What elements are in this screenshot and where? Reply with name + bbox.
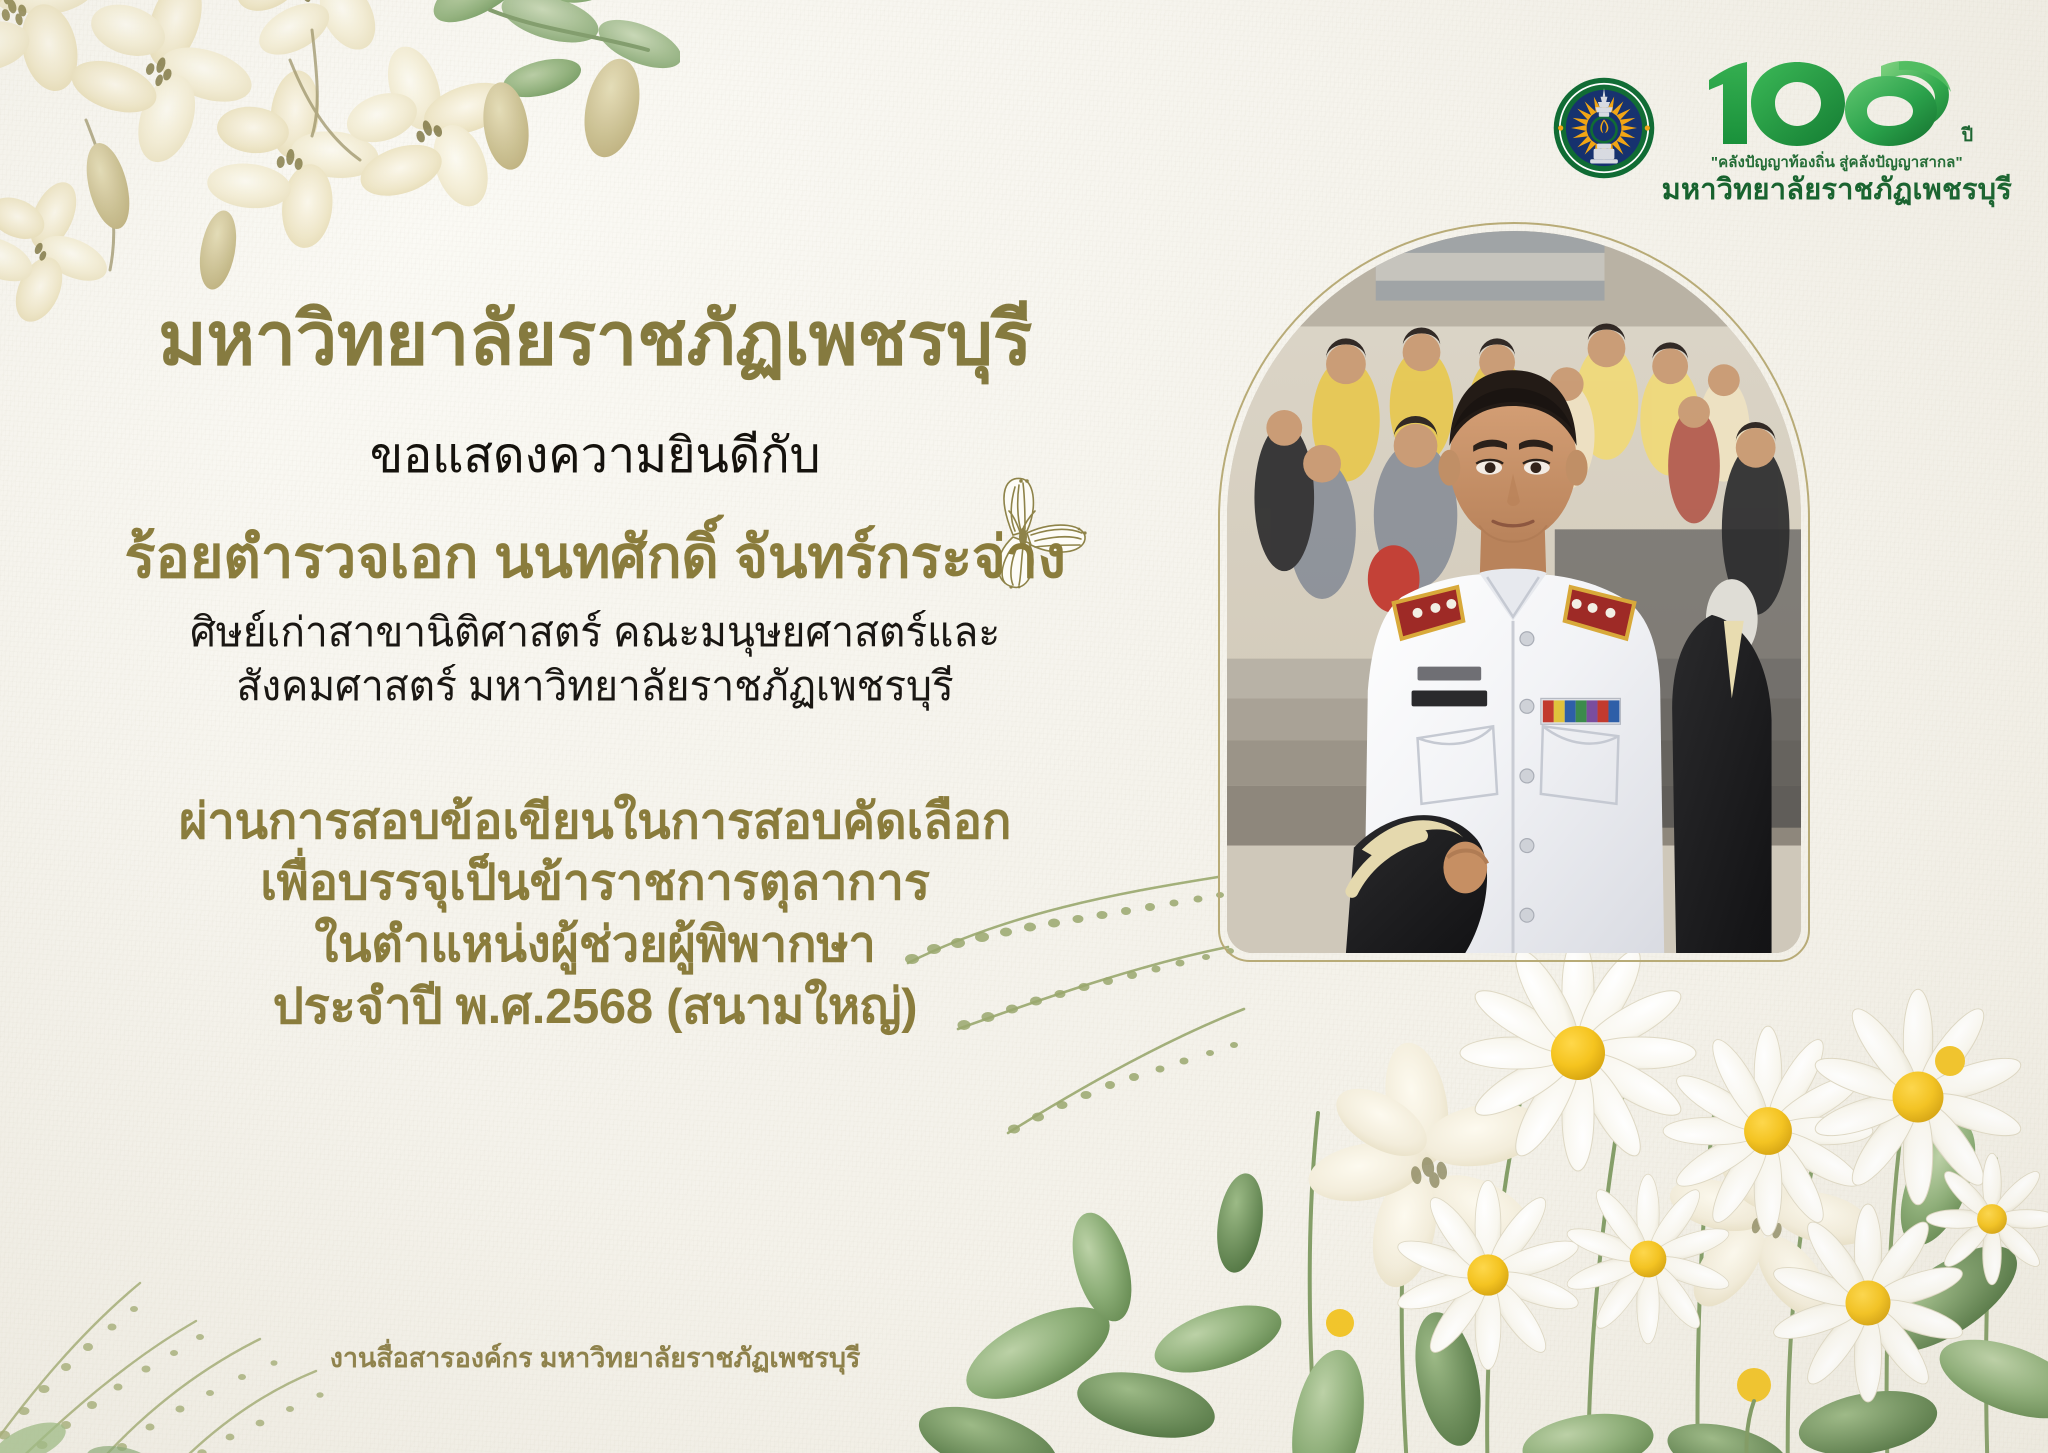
text-content-column: มหาวิทยาลัยราชภัฏเพชรบุรี ขอแสดงความยินด… [0, 300, 1190, 1039]
hundred-years-mark-icon [1701, 58, 1959, 154]
congratulation-poster: ปี "คลังปัญญาท้องถิ่น สู่คลังปัญญาสากล" … [0, 0, 2048, 1453]
honoree-affiliation-line-1: ศิษย์เก่าสาขานิติศาสตร์ คณะมนุษยศาสตร์แล… [0, 605, 1190, 659]
anniversary-unit-label: ปี [1962, 120, 1973, 149]
floral-decoration-bottom-left [0, 1143, 440, 1453]
achievement-line-3: ในตำแหน่งผู้ช่วยผู้พิพากษา [0, 915, 1190, 977]
graduate-photo [1227, 231, 1801, 953]
congratulation-lead-text: ขอแสดงความยินดีกับ [0, 430, 1190, 484]
honoree-name: ร้อยตำรวจเอก นนทศักดิ์ จันทร์กระจ่าง [0, 526, 1190, 590]
page-title: มหาวิทยาลัยราชภัฏเพชรบุรี [0, 300, 1190, 378]
footer-credit: งานสื่อสารองค์กร มหาวิทยาลัยราชภัฏเพชรบุ… [0, 1336, 1190, 1379]
anniversary-number-row: ปี [1701, 58, 1973, 154]
university-logo-block: ปี "คลังปัญญาท้องถิ่น สู่คลังปัญญาสากล" … [1552, 58, 2012, 205]
logo-tagline: "คลังปัญญาท้องถิ่น สู่คลังปัญญาสากล" [1711, 150, 1963, 174]
achievement-line-4: ประจำปี พ.ศ.2568 (สนามใหญ่) [0, 977, 1190, 1039]
logo-university-name: มหาวิทยาลัยราชภัฏเพชรบุรี [1662, 175, 2012, 205]
graduate-photo-image [1227, 231, 1801, 953]
university-seal-icon [1552, 76, 1656, 180]
achievement-line-1: ผ่านการสอบข้อเขียนในการสอบคัดเลือก [0, 792, 1190, 854]
graduate-photo-frame [1218, 222, 1810, 962]
honoree-affiliation-line-2: สังคมศาสตร์ มหาวิทยาลัยราชภัฏเพชรบุรี [0, 659, 1190, 713]
achievement-line-2: เพื่อบรรจุเป็นข้าราชการตุลาการ [0, 853, 1190, 915]
anniversary-logo: ปี "คลังปัญญาท้องถิ่น สู่คลังปัญญาสากล" … [1662, 58, 2012, 205]
